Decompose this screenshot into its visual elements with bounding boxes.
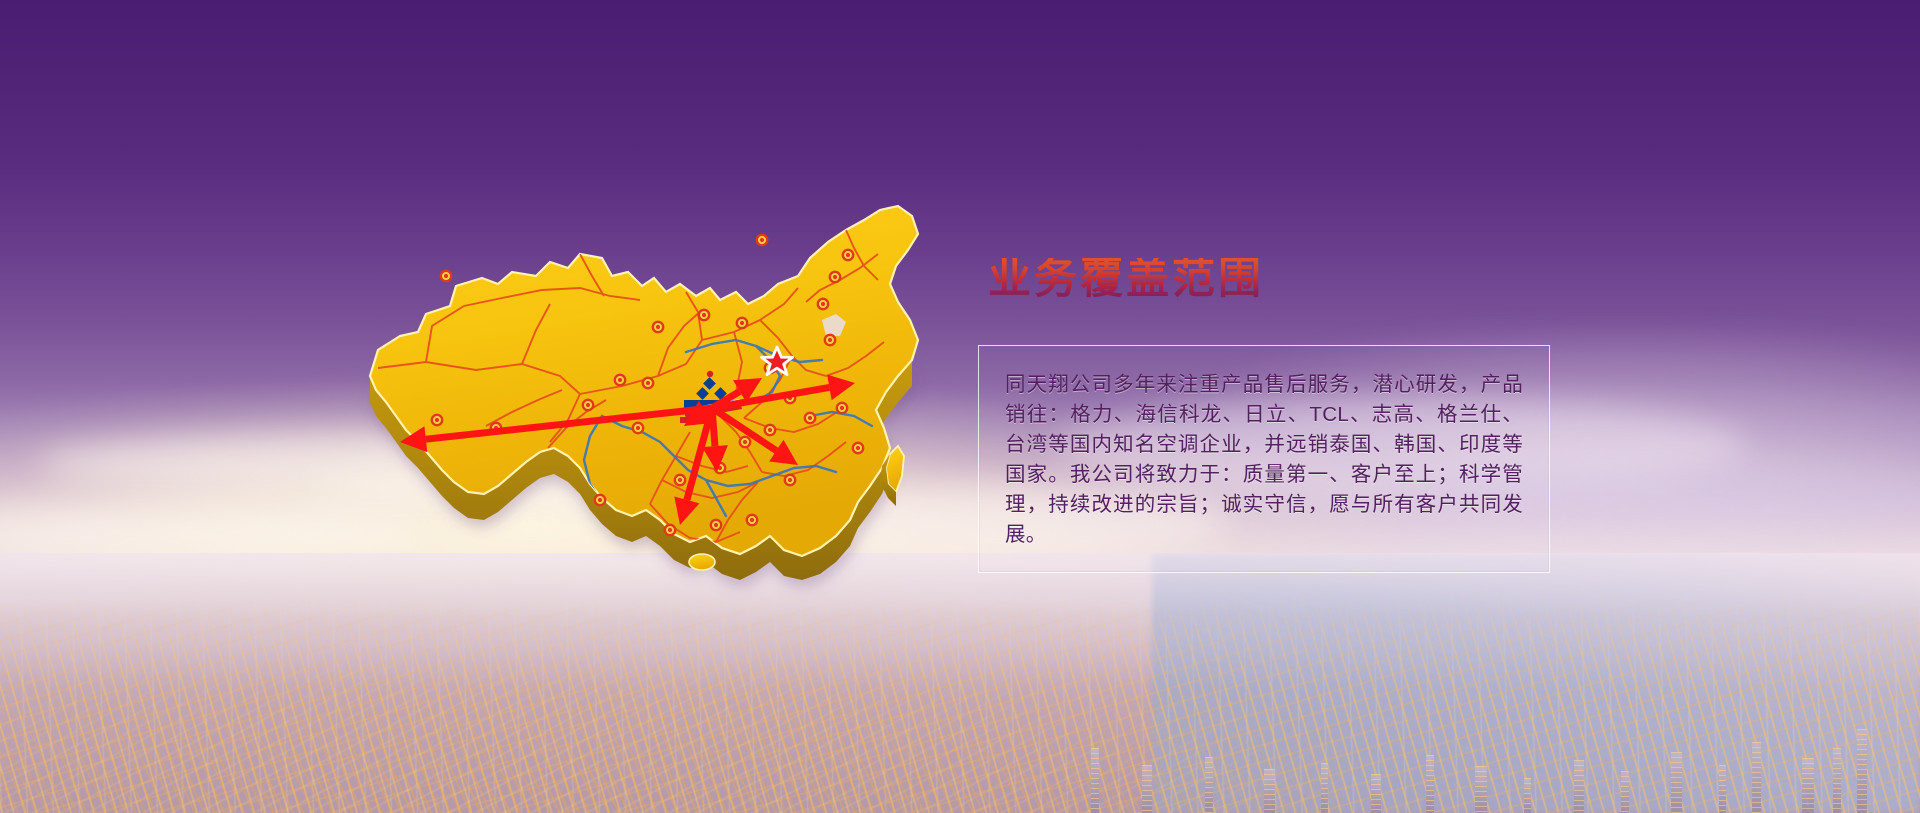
content-panel: 业务覆盖范围 同天翔公司多年来注重产品售后服务，潜心研发，产品销往：格力、海信科… xyxy=(978,258,1578,573)
description-text: 同天翔公司多年来注重产品售后服务，潜心研发，产品销往：格力、海信科龙、日立、TC… xyxy=(1005,370,1523,550)
city-dot-core xyxy=(646,381,650,385)
city-dot-core xyxy=(833,275,837,279)
city-dot-core xyxy=(740,321,744,325)
china-map xyxy=(250,180,930,580)
city-dot-core xyxy=(768,428,772,432)
city-dot-core xyxy=(840,406,844,410)
city-dot-core xyxy=(828,338,832,342)
city-dot-core xyxy=(656,325,660,329)
city-dot-core xyxy=(760,238,764,242)
page-title: 业务覆盖范围 xyxy=(988,258,1264,301)
city-dot-core xyxy=(743,440,747,444)
city-dot-core xyxy=(714,523,718,527)
city-dot-core xyxy=(821,302,825,306)
city-dot-core xyxy=(678,478,682,482)
city-dot-core xyxy=(618,378,622,382)
hainan-island xyxy=(689,554,715,570)
city-dot-core xyxy=(586,403,590,407)
aerial-city-photo xyxy=(0,553,1920,813)
skyline-towers xyxy=(1037,652,1920,813)
city-dot-core xyxy=(636,426,640,430)
city-dot-core xyxy=(444,274,448,278)
city-dot-core xyxy=(668,528,672,532)
city-dot-core xyxy=(435,418,439,422)
city-dot-core xyxy=(750,518,754,522)
banner-stage: 业务覆盖范围 同天翔公司多年来注重产品售后服务，潜心研发，产品销往：格力、海信科… xyxy=(0,0,1920,813)
city-dot-core xyxy=(846,253,850,257)
city-dot-core xyxy=(788,478,792,482)
city-dot-core xyxy=(808,416,812,420)
city-dot-core xyxy=(702,313,706,317)
city-dot-core xyxy=(598,498,602,502)
city-dot-core xyxy=(856,446,860,450)
description-box: 同天翔公司多年来注重产品售后服务，潜心研发，产品销往：格力、海信科龙、日立、TC… xyxy=(978,345,1550,573)
